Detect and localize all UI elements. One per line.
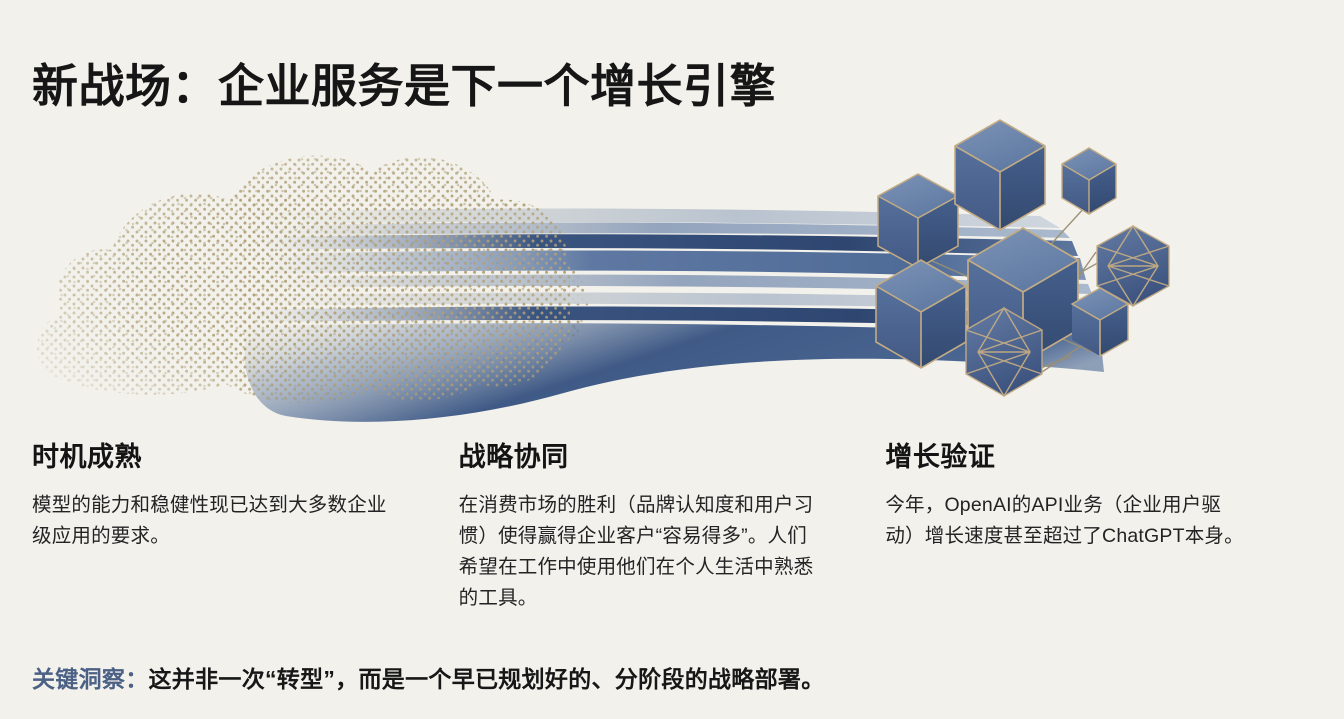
stipple-stream-overlap <box>240 199 570 424</box>
column-body-timing: 模型的能力和稳健性现已达到大多数企业级应用的要求。 <box>32 490 393 552</box>
column-heading-synergy: 战略协同 <box>459 440 820 474</box>
feature-column-synergy: 战略协同 在消费市场的胜利（品牌认知度和用户习惯）使得赢得企业客户“容易得多”。… <box>459 440 886 640</box>
cube-top <box>955 120 1045 230</box>
slide-canvas: 新战场：企业服务是下一个增长引擎 <box>0 0 1344 719</box>
column-body-synergy: 在消费市场的胜利（品牌认知度和用户习惯）使得赢得企业客户“容易得多”。人们希望在… <box>459 490 820 614</box>
feature-column-timing: 时机成熟 模型的能力和稳健性现已达到大多数企业级应用的要求。 <box>32 440 459 640</box>
feature-column-growth: 增长验证 今年，OpenAI的API业务（企业用户驱动）增长速度甚至超过了Cha… <box>885 440 1312 640</box>
cube-top-right-small <box>1062 148 1116 214</box>
key-insight-text: 这并非一次“转型”，而是一个早已规划好的、分阶段的战略部署。 <box>149 666 825 692</box>
key-insight-banner: 关键洞察：这并非一次“转型”，而是一个早已规划好的、分阶段的战略部署。 <box>32 662 1324 696</box>
feature-columns: 时机成熟 模型的能力和稳健性现已达到大多数企业级应用的要求。 战略协同 在消费市… <box>0 440 1344 640</box>
column-body-growth: 今年，OpenAI的API业务（企业用户驱动）增长速度甚至超过了ChatGPT本… <box>885 490 1246 552</box>
column-heading-growth: 增长验证 <box>885 440 1246 474</box>
column-heading-timing: 时机成熟 <box>32 440 393 474</box>
cube-cluster <box>876 120 1169 396</box>
key-insight-label: 关键洞察： <box>32 666 149 692</box>
hero-illustration <box>0 104 1344 434</box>
